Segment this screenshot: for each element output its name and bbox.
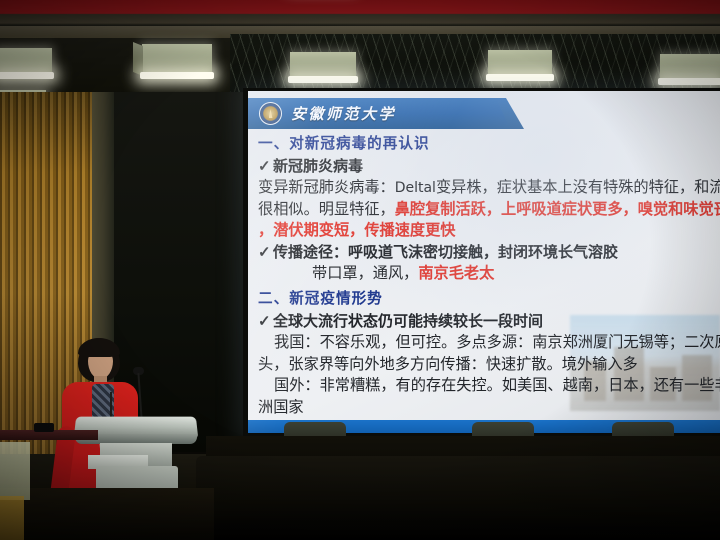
slide-heading-2: 二、新冠疫情形势 xyxy=(258,289,714,310)
slide-bullet: ✓新冠肺炎病毒 xyxy=(258,156,714,177)
slide-text-emphasis: ，潜伏期变短，传播速度更快 xyxy=(258,221,455,239)
presenter-hair-front xyxy=(78,338,120,357)
check-icon: ✓ xyxy=(258,311,273,332)
slide-text: 变异株，症状基本上没有特殊的特征，和流感 xyxy=(436,178,720,196)
slide-text: 带口罩，通风， xyxy=(312,264,418,282)
slide-line: 带口罩，通风，南京毛老太 xyxy=(258,263,714,285)
ceiling-light xyxy=(660,54,720,80)
slide-line: 洲国家 xyxy=(258,397,714,419)
slide-text-emphasis: 南京毛老太 xyxy=(418,264,494,282)
check-icon: ✓ xyxy=(258,242,273,263)
slide-line: 头，张家界等向外地多方向传播：快速扩散。境外输入多 xyxy=(258,354,714,376)
side-wall-panel-lower xyxy=(0,496,24,540)
table-object xyxy=(34,423,54,432)
slide-text: 很相似。明显特征， xyxy=(258,200,395,218)
slide-bullet-text: 全球大流行状态仍可能持续较长一段时间 xyxy=(273,312,543,330)
slide-bullet-text: 传播途径：呼吸道飞沫密切接触，封闭环境长气溶胶 xyxy=(273,243,618,261)
ceiling-light xyxy=(0,48,52,74)
slide-bullet-text: 新冠肺炎病毒 xyxy=(273,157,363,175)
slide-bullet: ✓全球大流行状态仍可能持续较长一段时间 xyxy=(258,311,714,332)
slide-line: 变异新冠肺炎病毒：Deltal变异株，症状基本上没有特殊的特征，和流感 xyxy=(258,177,714,199)
slide-line: 我国：不容乐观，但可控。多点多源：南京郑洲厦门无锡等；二次原 xyxy=(258,332,714,354)
slide-line: 国外：非常糟糕，有的存在失控。如美国、越南，日本，还有一些非 xyxy=(258,375,714,397)
projection-screen: 安徽师范大学 一、对新冠病毒的再认识 ✓新冠肺炎病毒 变异新冠肺炎病毒：Delt… xyxy=(248,91,720,433)
audience-foreground xyxy=(196,456,720,540)
lecture-hall-photo: 安徽师范大学 一、对新冠病毒的再认识 ✓新冠肺炎病毒 变异新冠肺炎病毒：Delt… xyxy=(0,0,720,540)
slide-text: 国外：非常糟糕，有的存在失控。如美国、越南，日本，还有一些非 xyxy=(274,376,720,394)
ceiling-light xyxy=(290,52,356,78)
slide-text-latin: Deltal xyxy=(395,180,436,196)
slide-text: 变异新冠肺炎病毒： xyxy=(258,178,395,196)
slide-heading-1: 一、对新冠病毒的再认识 xyxy=(258,134,714,155)
slide-text: 我国：不容乐观，但可控。多点多源：南京郑洲厦门无锡等；二次原 xyxy=(274,333,720,351)
slide-bullet: ✓传播途径：呼吸道飞沫密切接触，封闭环境长气溶胶 xyxy=(258,242,714,263)
slide-text: 洲国家 xyxy=(258,398,304,416)
check-icon: ✓ xyxy=(258,156,273,177)
slide-text-emphasis: 鼻腔复制活跃，上呼吸道症状更多，嗅觉和味觉丧失 xyxy=(395,200,720,218)
ceiling xyxy=(0,0,720,96)
slide-line: 很相似。明显特征，鼻腔复制活跃，上呼吸道症状更多，嗅觉和味觉丧失 xyxy=(258,199,714,221)
ceiling-light xyxy=(142,44,212,74)
slide-line: ，潜伏期变短，传播速度更快 xyxy=(258,220,714,242)
slide-banner: 安徽师范大学 xyxy=(248,98,510,129)
side-wall-panel xyxy=(0,442,30,500)
slide-text: 头，张家界等向外地多方向传播：快速扩散。境外输入多 xyxy=(258,355,638,373)
ceiling-light xyxy=(488,50,552,76)
university-name: 安徽师范大学 xyxy=(291,103,396,124)
slide-body: 一、对新冠病毒的再认识 ✓新冠肺炎病毒 变异新冠肺炎病毒：Deltal变异株，症… xyxy=(248,131,720,409)
foreground-left-dark xyxy=(0,488,214,540)
university-seal-icon xyxy=(259,102,282,125)
